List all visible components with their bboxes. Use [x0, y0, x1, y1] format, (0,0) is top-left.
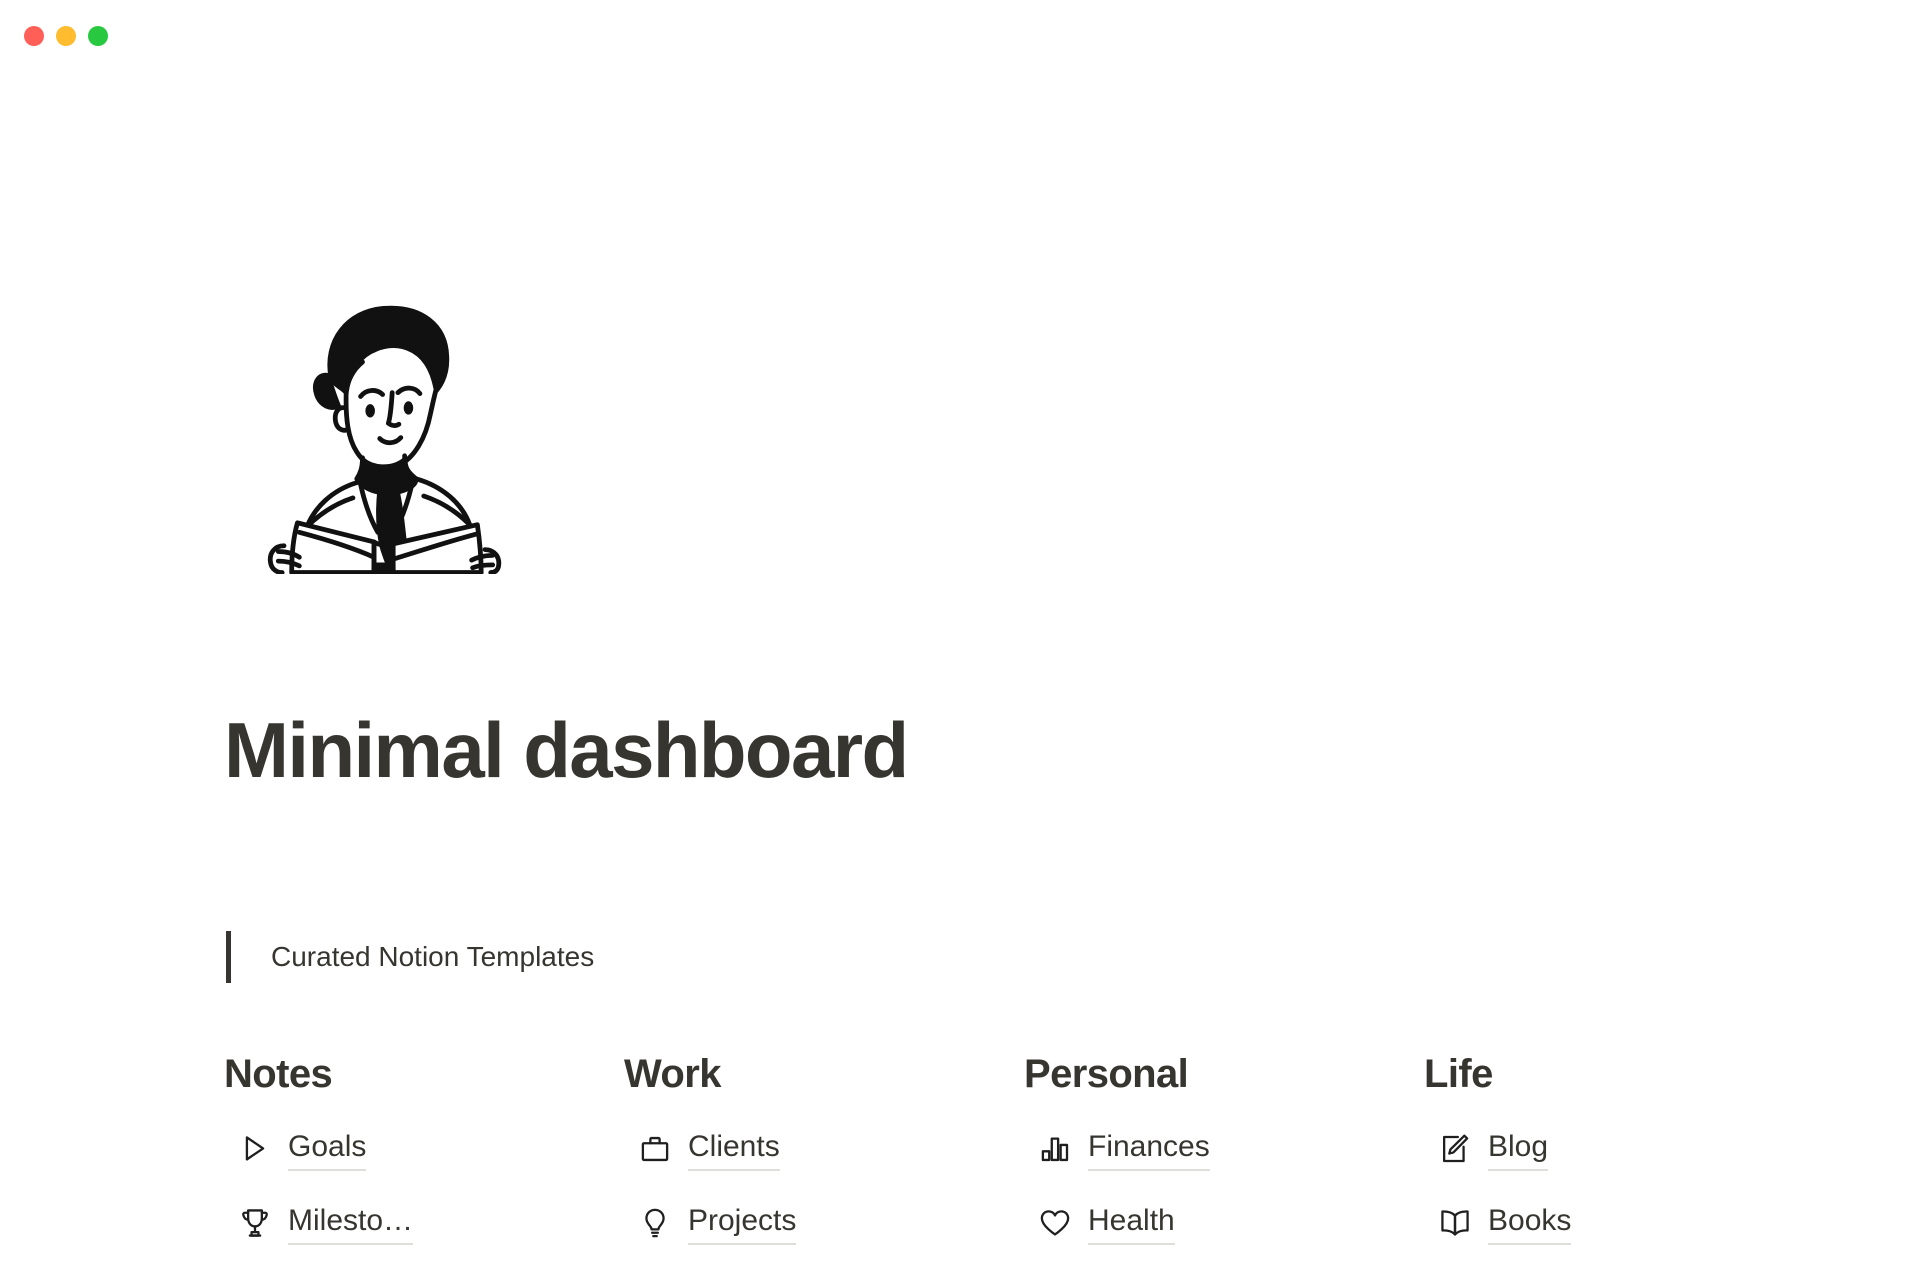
link-goals[interactable]: Goals	[224, 1124, 624, 1174]
minimize-window-button[interactable]	[56, 26, 76, 46]
cursor-triangle-icon	[238, 1132, 272, 1166]
link-blog[interactable]: Blog	[1424, 1124, 1824, 1174]
link-label: Clients	[688, 1128, 780, 1171]
link-columns: Notes Goals	[224, 1050, 1864, 1272]
zoom-window-button[interactable]	[88, 26, 108, 46]
link-label: Goals	[288, 1128, 366, 1171]
link-label: Health	[1088, 1202, 1175, 1245]
link-finances[interactable]: Finances	[1024, 1124, 1424, 1174]
quote-block: Curated Notion Templates	[226, 930, 594, 984]
trophy-icon	[238, 1206, 272, 1240]
briefcase-icon	[638, 1132, 672, 1166]
traffic-lights	[24, 26, 108, 46]
link-label: Blog	[1488, 1128, 1548, 1171]
link-label: Projects	[688, 1202, 796, 1245]
column-title-work: Work	[624, 1050, 1024, 1098]
link-milestones[interactable]: Milesto…	[224, 1198, 624, 1248]
column-life: Life Blog Books	[1424, 1050, 1824, 1272]
close-window-button[interactable]	[24, 26, 44, 46]
lightbulb-icon	[638, 1206, 672, 1240]
column-personal: Personal Finances Health	[1024, 1050, 1424, 1272]
link-label: Milesto…	[288, 1202, 413, 1245]
column-notes: Notes Goals	[224, 1050, 624, 1272]
column-title-notes: Notes	[224, 1050, 624, 1098]
quote-text: Curated Notion Templates	[271, 937, 594, 977]
quote-bar	[226, 931, 231, 983]
link-health[interactable]: Health	[1024, 1198, 1424, 1248]
notion-page: Minimal dashboard Curated Notion Templat…	[0, 72, 1920, 1200]
window-chrome	[0, 0, 1920, 72]
column-title-life: Life	[1424, 1050, 1824, 1098]
link-clients[interactable]: Clients	[624, 1124, 1024, 1174]
link-label: Books	[1488, 1202, 1571, 1245]
column-work: Work Clients Pro	[624, 1050, 1024, 1272]
page-title: Minimal dashboard	[224, 704, 908, 796]
link-projects[interactable]: Projects	[624, 1198, 1024, 1248]
link-label: Finances	[1088, 1128, 1210, 1171]
column-title-personal: Personal	[1024, 1050, 1424, 1098]
heart-icon	[1038, 1206, 1072, 1240]
pencil-square-icon	[1438, 1132, 1472, 1166]
link-books[interactable]: Books	[1424, 1198, 1824, 1248]
open-book-icon	[1438, 1206, 1472, 1240]
bar-chart-icon	[1038, 1132, 1072, 1166]
person-reading-book-illustration[interactable]	[240, 284, 508, 574]
